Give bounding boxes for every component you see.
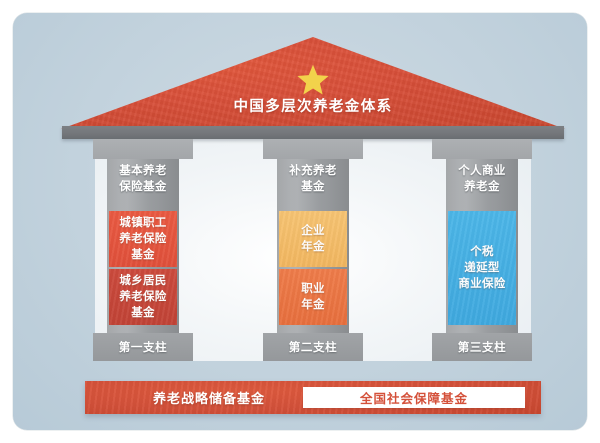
box-line: 企业 xyxy=(301,223,325,239)
box-line: 商业保险 xyxy=(458,276,505,292)
pillar-three-heading-line-1: 个人商业 xyxy=(446,163,518,179)
box-line: 基金 xyxy=(119,305,166,321)
pillar-three-heading-line-2: 养老金 xyxy=(446,179,518,195)
pillar-one[interactable]: 基本养老 保险基金 城镇职工 养老保险 基金 城乡居民 养老保险 基金 第一支柱 xyxy=(93,139,193,361)
pillar-two-heading: 补充养老 基金 xyxy=(277,163,349,195)
pillar-two-heading-line-1: 补充养老 xyxy=(277,163,349,179)
box-line: 递延型 xyxy=(458,260,505,276)
box-line: 养老保险 xyxy=(119,289,166,305)
roof-pediment: 中国多层次养老金体系 xyxy=(61,37,565,129)
box-line: 年金 xyxy=(301,297,325,313)
entablature-bar xyxy=(62,126,564,139)
pillar-two-box-occupational-annuity[interactable]: 职业 年金 xyxy=(279,269,347,325)
five-pointed-star-icon xyxy=(296,63,330,97)
pillar-two-capital xyxy=(263,139,363,159)
pillar-one-capital xyxy=(93,139,193,159)
pillar-three[interactable]: 个人商业 养老金 个税 递延型 商业保险 第三支柱 xyxy=(432,139,532,361)
pillar-one-heading: 基本养老 保险基金 xyxy=(107,163,179,195)
infographic-panel: 中国多层次养老金体系 基本养老 保险基金 城镇职工 养老保险 基金 xyxy=(13,13,587,430)
box-line: 基金 xyxy=(119,247,166,263)
box-line: 个税 xyxy=(458,244,505,260)
box-line: 年金 xyxy=(301,239,325,255)
pension-system-infographic: 中国多层次养老金体系 基本养老 保险基金 城镇职工 养老保险 基金 xyxy=(0,0,600,443)
box-line: 职业 xyxy=(301,281,325,297)
pillar-two-footer-label: 第二支柱 xyxy=(263,339,363,355)
box-line: 城乡居民 xyxy=(119,273,166,289)
pillar-two-heading-line-2: 基金 xyxy=(277,179,349,195)
pillar-three-box-tax-deferred-commercial-insurance[interactable]: 个税 递延型 商业保险 xyxy=(448,211,516,325)
pillar-one-box-urban-rural-resident-fund[interactable]: 城乡居民 养老保险 基金 xyxy=(109,269,177,325)
foundation-bar: 养老战略储备基金 全国社会保障基金 xyxy=(85,381,541,414)
pillar-two-box-enterprise-annuity[interactable]: 企业 年金 xyxy=(279,211,347,267)
pillar-three-capital xyxy=(432,139,532,159)
page-title: 中国多层次养老金体系 xyxy=(61,95,565,116)
pillar-one-box-urban-employee-fund[interactable]: 城镇职工 养老保险 基金 xyxy=(109,211,177,267)
pillar-one-heading-line-1: 基本养老 xyxy=(107,163,179,179)
pillar-three-footer-label: 第三支柱 xyxy=(432,339,532,355)
pillar-three-heading: 个人商业 养老金 xyxy=(446,163,518,195)
pillar-one-heading-line-2: 保险基金 xyxy=(107,179,179,195)
box-line: 养老保险 xyxy=(119,231,166,247)
national-social-security-fund-box[interactable]: 全国社会保障基金 xyxy=(303,387,525,408)
box-line: 城镇职工 xyxy=(119,215,166,231)
pillar-one-footer-label: 第一支柱 xyxy=(93,339,193,355)
pillar-two[interactable]: 补充养老 基金 企业 年金 职业 年金 第二支柱 xyxy=(263,139,363,361)
strategic-reserve-fund-label: 养老战略储备基金 xyxy=(109,381,309,414)
